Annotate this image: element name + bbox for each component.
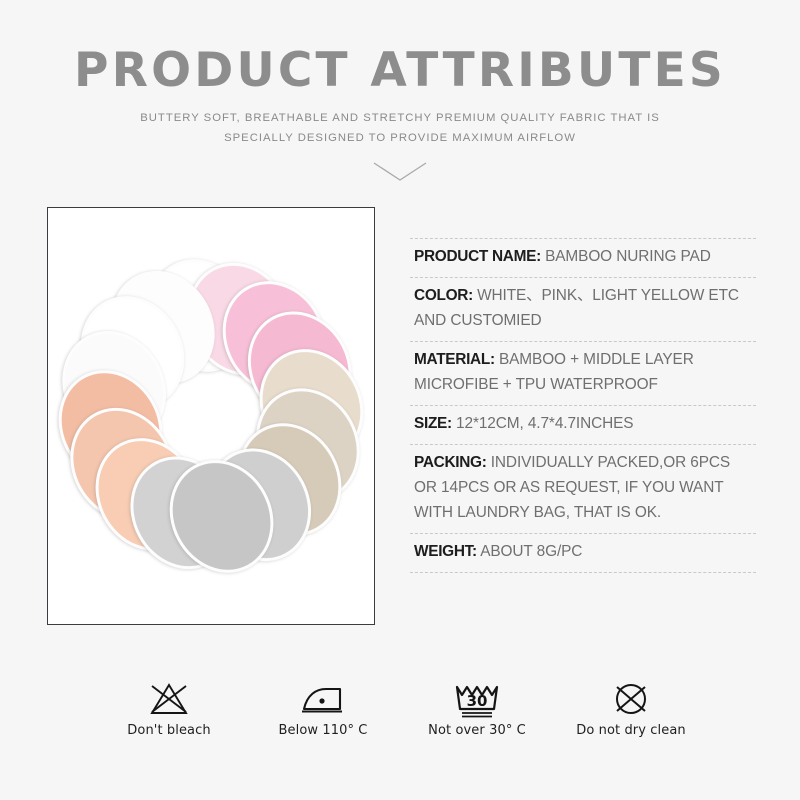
spec-row-weight: WEIGHT: ABOUT 8G/PC xyxy=(410,534,756,573)
page-subtitle: BUTTERY SOFT, BREATHABLE AND STRETCHY PR… xyxy=(140,109,660,149)
spec-value: BAMBOO NURING PAD xyxy=(541,248,711,265)
spec-line: WITH LAUNDRY BAG, THAT IS OK. xyxy=(414,501,756,526)
spec-line: COLOR: WHITE、PINK、LIGHT YELLOW ETC xyxy=(414,284,756,309)
care-label: Not over 30° C xyxy=(418,723,536,738)
spec-value: ABOUT 8G/PC xyxy=(477,543,582,560)
care-item-iron-low-heat: Below 110° C xyxy=(264,676,382,738)
page-title: PRODUCT ATTRIBUTES xyxy=(0,46,800,95)
spec-line: MATERIAL: BAMBOO + MIDDLE LAYER xyxy=(414,348,756,373)
spec-row-packing: PACKING: INDIVIDUALLY PACKED,OR 6PCSOR 1… xyxy=(410,445,756,534)
spec-line: AND CUSTOMIED xyxy=(414,309,756,334)
spec-row-material: MATERIAL: BAMBOO + MIDDLE LAYERMICROFIBE… xyxy=(410,342,756,406)
nursing-pad-ring xyxy=(61,266,361,566)
svg-text:30: 30 xyxy=(467,692,488,710)
care-label: Do not dry clean xyxy=(572,723,690,738)
spec-line: MICROFIBE + TPU WATERPROOF xyxy=(414,373,756,398)
care-item-no-dry-clean: Do not dry clean xyxy=(572,676,690,738)
spec-key-material: MATERIAL: xyxy=(414,351,495,368)
spec-row-color: COLOR: WHITE、PINK、LIGHT YELLOW ETCAND CU… xyxy=(410,278,756,342)
product-spec-table: PRODUCT NAME: BAMBOO NURING PADCOLOR: WH… xyxy=(410,238,756,573)
chevron-down-icon xyxy=(0,161,800,187)
spec-line: PACKING: INDIVIDUALLY PACKED,OR 6PCS xyxy=(414,451,756,476)
page-header: PRODUCT ATTRIBUTES BUTTERY SOFT, BREATHA… xyxy=(0,0,800,187)
product-image xyxy=(47,207,375,625)
spec-key-weight: WEIGHT: xyxy=(414,543,477,560)
care-symbols-row: Don't bleachBelow 110° C30Not over 30° C… xyxy=(0,676,800,738)
wash-30-icon: 30 xyxy=(418,676,536,722)
main-content: PRODUCT NAME: BAMBOO NURING PADCOLOR: WH… xyxy=(0,200,800,640)
spec-value: BAMBOO + MIDDLE LAYER xyxy=(495,351,694,368)
spec-row-product-name: PRODUCT NAME: BAMBOO NURING PAD xyxy=(410,238,756,278)
care-item-wash-30: 30Not over 30° C xyxy=(418,676,536,738)
spec-value: 12*12CM, 4.7*4.7INCHES xyxy=(452,415,634,432)
spec-key-color: COLOR: xyxy=(414,287,473,304)
care-label: Don't bleach xyxy=(110,723,228,738)
no-bleach-icon xyxy=(110,676,228,722)
care-label: Below 110° C xyxy=(264,723,382,738)
spec-line: WEIGHT: ABOUT 8G/PC xyxy=(414,540,756,565)
no-dry-clean-icon xyxy=(572,676,690,722)
spec-line: PRODUCT NAME: BAMBOO NURING PAD xyxy=(414,245,756,270)
spec-line: OR 14PCS OR AS REQUEST, IF YOU WANT xyxy=(414,476,756,501)
iron-low-heat-icon xyxy=(264,676,382,722)
spec-value: INDIVIDUALLY PACKED,OR 6PCS xyxy=(487,454,731,471)
care-item-no-bleach: Don't bleach xyxy=(110,676,228,738)
spec-key-packing: PACKING: xyxy=(414,454,487,471)
spec-line: SIZE: 12*12CM, 4.7*4.7INCHES xyxy=(414,412,756,437)
spec-key-product-name: PRODUCT NAME: xyxy=(414,248,541,265)
spec-key-size: SIZE: xyxy=(414,415,452,432)
spec-row-size: SIZE: 12*12CM, 4.7*4.7INCHES xyxy=(410,406,756,445)
spec-value: WHITE、PINK、LIGHT YELLOW ETC xyxy=(473,287,739,304)
